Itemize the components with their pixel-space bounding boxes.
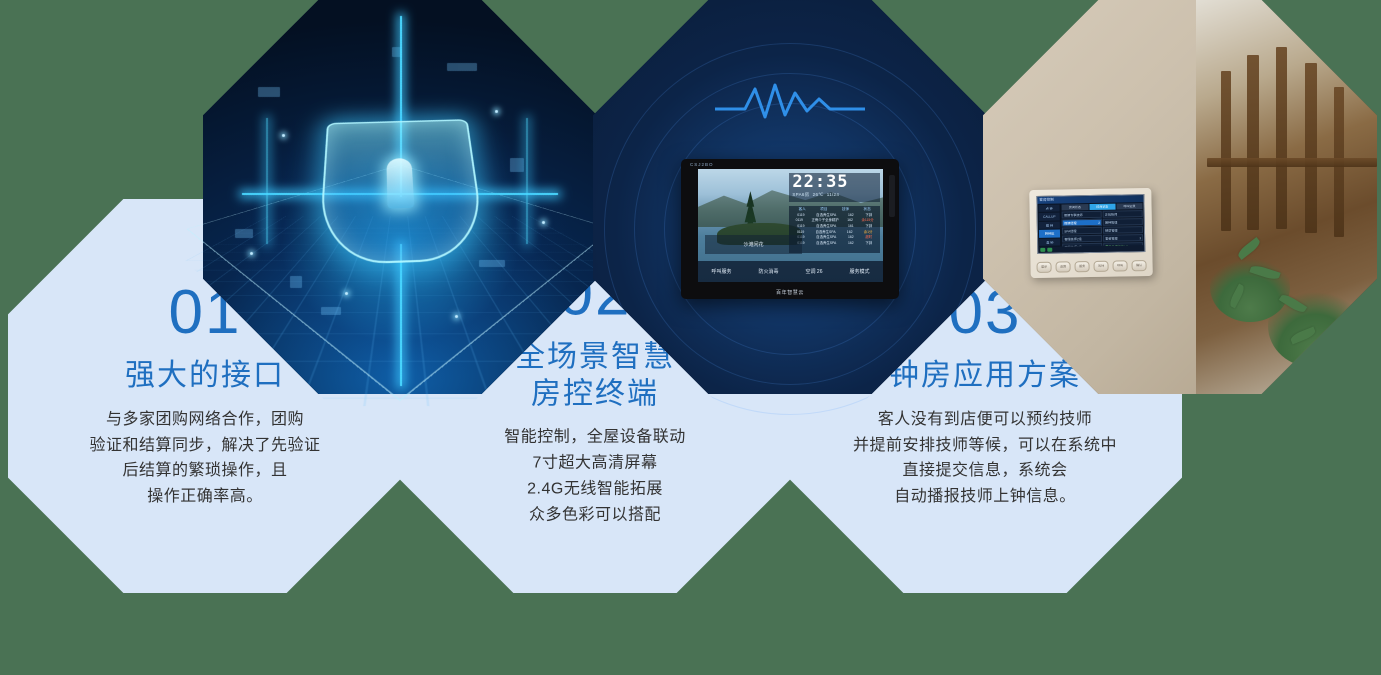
hardware-key: 返回 [1056, 261, 1071, 272]
room-control-device: CSJ2BO 22:35 SPA6房 26℃ [681, 159, 899, 299]
player-label: 沙滩闲花 [743, 241, 763, 248]
device-brand: CSJ2BO [690, 162, 714, 167]
panel-description: 与多家团购网络合作，团购 验证和结算同步，解决了先验证 后结算的繁琐操作，且 操… [40, 406, 370, 510]
panel-description: 客人没有到店便可以预约技师 并提前安排技师等候，可以在系统中 直接提交信息，系统… [805, 406, 1165, 510]
wall-control-panel: 客房控制 点 钟 CALLUP 圈 钟 转钟区 直 钟 [1030, 188, 1154, 278]
heartbeat-icon [715, 79, 865, 125]
room-corridor [1196, 0, 1377, 394]
panel-tab: 呼叫记录 [1117, 203, 1143, 209]
panel-tab: 技师状态 [1089, 204, 1115, 210]
clock-subtitle: SPA6房 26℃ 11/24 [792, 192, 877, 198]
screen-bottom-bar: 呼叫服务 防火消毒 空调 26 服务模式 [698, 261, 883, 281]
panel-list-item: 正班技师 [1103, 210, 1143, 218]
device-side-panel [889, 175, 895, 217]
side-button: 点 钟 [1039, 205, 1060, 213]
bar-item-mode: 服务模式 [847, 268, 871, 275]
panel-side-buttons: 点 钟 CALLUP 圈 钟 转钟区 直 钟 [1038, 204, 1062, 247]
device-logo: 百年智慧云 [776, 289, 804, 296]
side-button: CALLUP [1039, 213, 1060, 221]
clock-time: 22:35 [792, 174, 877, 191]
side-button: 转钟区 [1039, 230, 1060, 238]
panel-list-item: 保健专享技师 [1062, 211, 1102, 219]
panel-status-bar [1039, 245, 1145, 253]
screen-media-player: 沙滩闲花 [705, 235, 801, 254]
feature-diamond-layout: CSJ2BO 22:35 SPA6房 26℃ [0, 0, 1381, 603]
hardware-key: 叫钟 [1094, 260, 1109, 271]
panel-description: 智能控制，全屋设备联动 7寸超大高清屏幕 2.4G无线智能拓展 众多色彩可以搭配 [430, 425, 760, 529]
panel-list-item: 保健经理2 [1062, 219, 1102, 227]
panel-list-item: 楼层管理 [1103, 226, 1143, 234]
panel-tab: 房间状态 [1062, 204, 1088, 210]
panel-list-item: 客装管理1 [1103, 234, 1143, 242]
panel-list-left: 保健专享技师 保健经理2 SPA经理 客服技师2组 客服技师3组 [1062, 211, 1103, 251]
panel-list-item: 客服技师2组 [1063, 235, 1103, 243]
screen-service-table: 客人 项目 技师 状态 0119 自选养生SPA 162 下钟 [789, 206, 880, 253]
side-button: 圈 钟 [1039, 221, 1060, 229]
side-button: 直 钟 [1039, 238, 1060, 246]
control-panel-screen: 客房控制 点 钟 CALLUP 圈 钟 转钟区 直 钟 [1037, 194, 1146, 254]
table-row: 0119 自选养生SPA 162 下钟 [791, 241, 878, 247]
panel-list-item: 搬钟管理 [1103, 218, 1143, 226]
bar-item-call: 呼叫服务 [710, 268, 734, 275]
hardware-key: 菜单 [1037, 261, 1052, 272]
panel-list-right: 正班技师 搬钟管理 楼层管理 客装管理1 更多技师操作1/2 [1103, 210, 1144, 250]
spa-room-image: 客房控制 点 钟 CALLUP 圈 钟 转钟区 直 钟 [983, 0, 1377, 394]
bar-item-ac: 空调 26 [804, 268, 825, 275]
hardware-key: 确认 [1132, 260, 1147, 271]
panel-hardware-keys: 菜单 返回 服务 叫钟 呼叫 确认 [1035, 258, 1149, 274]
bar-item-fire: 防火消毒 [757, 268, 781, 275]
device-screen: 22:35 SPA6房 26℃ 11/24 客人 项目 技师 [698, 169, 883, 282]
hardware-key: 服务 [1075, 261, 1090, 272]
hardware-key: 呼叫 [1113, 260, 1128, 271]
screen-clock-widget: 22:35 SPA6房 26℃ 11/24 [789, 173, 880, 202]
panel-list-item: SPA经理 [1062, 227, 1102, 235]
